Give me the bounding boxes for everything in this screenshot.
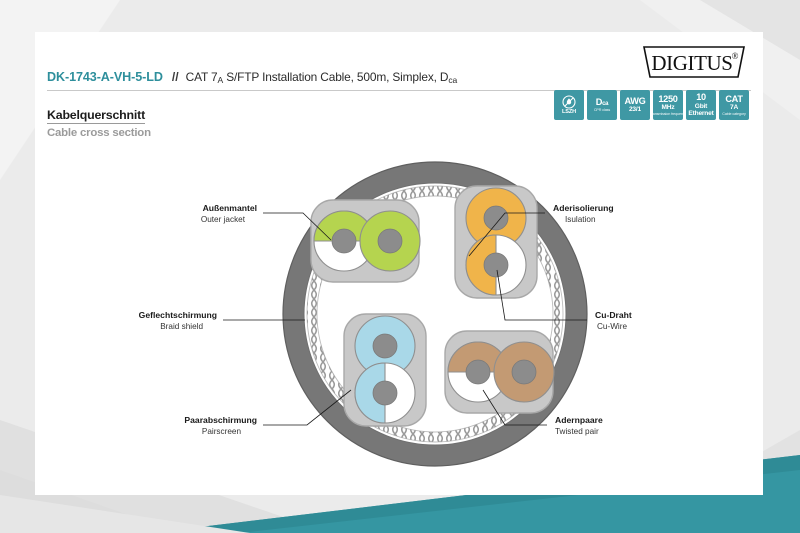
bandwidth-badge: 1250 MHz Transmission frequency xyxy=(653,90,683,120)
cat-badge-class: 7A xyxy=(730,105,738,112)
cat-badge-main: CAT xyxy=(725,95,742,104)
product-sku: DK-1743-A-VH-5-LD xyxy=(47,70,163,84)
digitus-logo: DIGITUS ® xyxy=(638,46,746,81)
header-separator: // xyxy=(172,70,179,84)
ethernet-badge-caption: Ethernet xyxy=(688,111,713,118)
pair-brown xyxy=(445,331,554,413)
product-header: DK-1743-A-VH-5-LD // CAT 7A S/FTP Instal… xyxy=(47,70,567,84)
cable-cross-section-diagram: Außenmantel Outer jacket Geflechtschirmu… xyxy=(35,128,763,488)
label-twisted-pair: Adernpaare Twisted pair xyxy=(555,415,603,436)
dca-badge-main: Dca xyxy=(596,98,608,107)
label-braid-shield-de: Geflechtschirmung xyxy=(139,310,217,320)
ethernet-badge: 10 Gbit Ethernet xyxy=(686,90,716,120)
awg-badge: AWG 23/1 xyxy=(620,90,650,120)
pair-orange xyxy=(455,186,537,298)
bandwidth-badge-caption: Transmission frequency xyxy=(653,113,683,117)
dca-badge-caption: CPR class xyxy=(594,109,610,113)
label-outer-jacket: Außenmantel Outer jacket xyxy=(201,203,257,224)
pair-green xyxy=(311,200,420,282)
label-braid-shield: Geflechtschirmung Braid shield xyxy=(139,310,217,331)
pair-blue xyxy=(344,314,426,426)
label-isolation-de: Aderisolierung xyxy=(553,203,614,213)
product-description: CAT 7A S/FTP Installation Cable, 500m, S… xyxy=(186,70,457,84)
label-twisted-pair-de: Adernpaare xyxy=(555,415,603,425)
brand-name: DIGITUS xyxy=(651,51,732,75)
label-braid-shield-en: Braid shield xyxy=(160,322,203,331)
cat-badge-caption: Cable category xyxy=(722,113,745,117)
label-twisted-pair-en: Twisted pair xyxy=(555,427,599,436)
label-isolation: Aderisolierung Isulation xyxy=(553,203,614,224)
screenshot-root: DK-1743-A-VH-5-LD // CAT 7A S/FTP Instal… xyxy=(0,0,800,533)
lszh-badge: LSZH xyxy=(554,90,584,120)
certification-badges: LSZH Dca CPR class AWG 23/1 1250 MHz Tra… xyxy=(554,90,749,120)
cat-badge: CAT 7A Cable category xyxy=(719,90,749,120)
ethernet-badge-unit: Gbit xyxy=(695,104,707,111)
label-outer-jacket-en: Outer jacket xyxy=(201,215,246,224)
label-cu-wire-en: Cu-Wire xyxy=(597,322,627,331)
dca-badge: Dca CPR class xyxy=(587,90,617,120)
awg-badge-main: AWG xyxy=(624,97,645,106)
label-pairscreen: Paarabschirmung Pairscreen xyxy=(184,415,257,436)
label-pairscreen-en: Pairscreen xyxy=(202,427,242,436)
lszh-badge-label: LSZH xyxy=(562,110,576,116)
label-cu-wire-de: Cu-Draht xyxy=(595,310,632,320)
label-isolation-en: Isulation xyxy=(565,215,596,224)
label-pairscreen-de: Paarabschirmung xyxy=(184,415,257,425)
registered-mark: ® xyxy=(732,51,739,61)
no-flame-icon xyxy=(562,95,576,109)
section-title-de: Kabelquerschnitt xyxy=(47,108,145,124)
content-card: DK-1743-A-VH-5-LD // CAT 7A S/FTP Instal… xyxy=(35,32,763,495)
ethernet-badge-main: 10 xyxy=(696,93,706,102)
label-cu-wire: Cu-Draht Cu-Wire xyxy=(595,310,632,331)
bandwidth-badge-main: 1250 xyxy=(658,95,677,104)
bandwidth-badge-unit: MHz xyxy=(662,105,675,112)
awg-badge-value: 23/1 xyxy=(629,107,641,114)
label-outer-jacket-de: Außenmantel xyxy=(203,203,257,213)
